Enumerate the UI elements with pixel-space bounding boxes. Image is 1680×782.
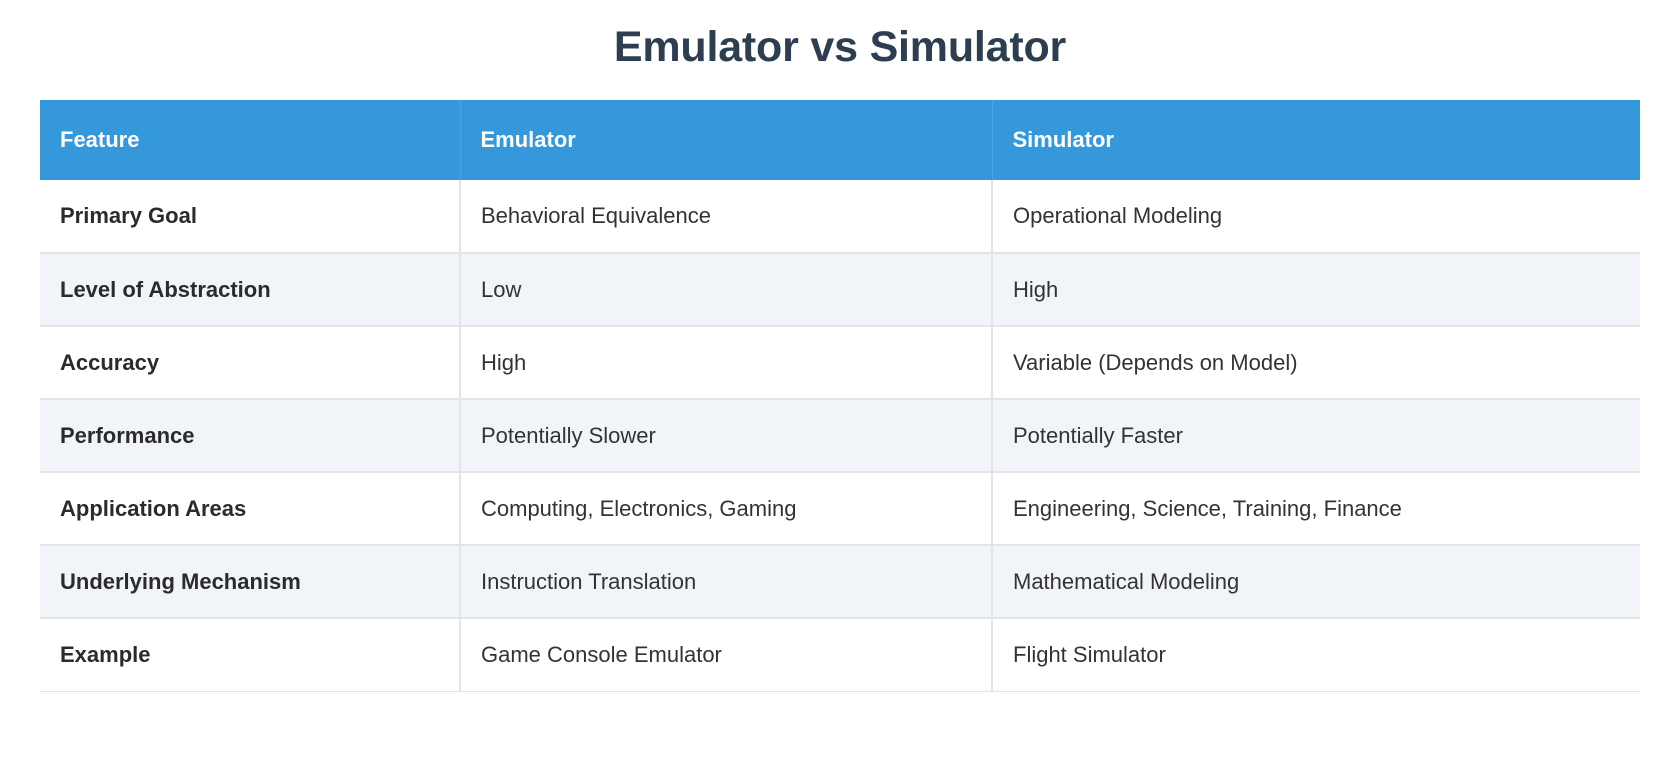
cell-simulator: Mathematical Modeling	[992, 545, 1640, 618]
cell-simulator: High	[992, 253, 1640, 326]
cell-emulator: High	[460, 326, 992, 399]
cell-emulator: Low	[460, 253, 992, 326]
cell-simulator: Flight Simulator	[992, 618, 1640, 691]
cell-emulator: Potentially Slower	[460, 399, 992, 472]
cell-feature: Performance	[40, 399, 460, 472]
cell-feature: Application Areas	[40, 472, 460, 545]
cell-emulator: Instruction Translation	[460, 545, 992, 618]
cell-simulator: Operational Modeling	[992, 180, 1640, 253]
table-row: Underlying Mechanism Instruction Transla…	[40, 545, 1640, 618]
column-header-simulator: Simulator	[992, 100, 1640, 180]
table-header-row: Feature Emulator Simulator	[40, 100, 1640, 180]
cell-emulator: Behavioral Equivalence	[460, 180, 992, 253]
column-header-feature: Feature	[40, 100, 460, 180]
cell-simulator: Potentially Faster	[992, 399, 1640, 472]
comparison-table-container: Feature Emulator Simulator Primary Goal …	[40, 100, 1640, 692]
table-row: Level of Abstraction Low High	[40, 253, 1640, 326]
table-row: Application Areas Computing, Electronics…	[40, 472, 1640, 545]
column-header-emulator: Emulator	[460, 100, 992, 180]
cell-simulator: Engineering, Science, Training, Finance	[992, 472, 1640, 545]
cell-emulator: Game Console Emulator	[460, 618, 992, 691]
page-title: Emulator vs Simulator	[0, 26, 1680, 69]
cell-feature: Accuracy	[40, 326, 460, 399]
table-header: Feature Emulator Simulator	[40, 100, 1640, 180]
cell-simulator: Variable (Depends on Model)	[992, 326, 1640, 399]
cell-emulator: Computing, Electronics, Gaming	[460, 472, 992, 545]
cell-feature: Underlying Mechanism	[40, 545, 460, 618]
cell-feature: Primary Goal	[40, 180, 460, 253]
comparison-page: Emulator vs Simulator Feature Emulator S…	[0, 0, 1680, 782]
comparison-table: Feature Emulator Simulator Primary Goal …	[40, 100, 1640, 692]
table-row: Accuracy High Variable (Depends on Model…	[40, 326, 1640, 399]
cell-feature: Example	[40, 618, 460, 691]
cell-feature: Level of Abstraction	[40, 253, 460, 326]
table-row: Primary Goal Behavioral Equivalence Oper…	[40, 180, 1640, 253]
table-body: Primary Goal Behavioral Equivalence Oper…	[40, 180, 1640, 691]
table-row: Example Game Console Emulator Flight Sim…	[40, 618, 1640, 691]
table-row: Performance Potentially Slower Potential…	[40, 399, 1640, 472]
